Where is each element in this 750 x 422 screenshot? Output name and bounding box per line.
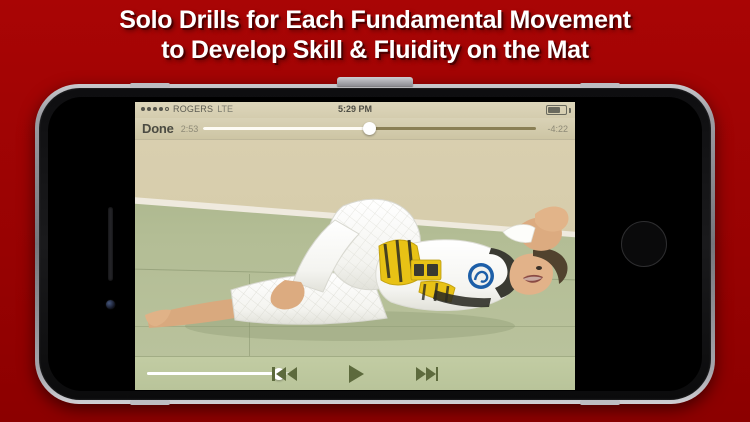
battery-fill: [548, 107, 560, 113]
status-bar-clock: 5:29 PM: [135, 104, 575, 114]
phone-device-frame: ROGERS LTE 5:29 PM Done 2:53 -4:22: [35, 84, 715, 404]
headline-line-1: Solo Drills for Each Fundamental Movemen…: [119, 6, 630, 34]
battery-cap-icon: [569, 108, 571, 113]
elapsed-time-label: 2:53: [181, 124, 199, 134]
battery-icon: [546, 105, 567, 115]
previous-button[interactable]: [272, 367, 297, 381]
volume-fill: [147, 372, 279, 375]
status-bar: ROGERS LTE 5:29 PM: [135, 102, 575, 118]
video-controls-bar: [135, 356, 575, 390]
play-button[interactable]: [349, 365, 364, 383]
scrubber-slider[interactable]: [203, 127, 536, 130]
power-button[interactable]: [337, 77, 413, 86]
done-button[interactable]: Done: [142, 121, 174, 136]
next-track-icon: [416, 367, 439, 381]
previous-track-icon: [272, 367, 297, 381]
next-button[interactable]: [416, 367, 439, 381]
scrubber-progress-fill: [203, 127, 370, 130]
front-camera-icon: [106, 300, 115, 309]
promo-headline: Solo Drills for Each Fundamental Movemen…: [0, 6, 750, 65]
antenna-band-bottom-right: [580, 400, 620, 405]
play-icon: [349, 365, 364, 383]
video-viewport[interactable]: [135, 140, 575, 356]
video-player-top-bar: Done 2:53 -4:22: [135, 118, 575, 140]
earpiece-speaker-icon: [108, 207, 113, 281]
athlete-figure: [135, 140, 575, 356]
home-button[interactable]: [621, 221, 667, 267]
phone-screen: ROGERS LTE 5:29 PM Done 2:53 -4:22: [135, 102, 575, 390]
scrubber-knob[interactable]: [363, 122, 376, 135]
antenna-band-bottom-left: [130, 400, 170, 405]
phone-inner-frame: ROGERS LTE 5:29 PM Done 2:53 -4:22: [39, 88, 711, 400]
headline-line-2: to Develop Skill & Fluidity on the Mat: [0, 36, 750, 66]
remaining-time-label: -4:22: [547, 124, 568, 134]
